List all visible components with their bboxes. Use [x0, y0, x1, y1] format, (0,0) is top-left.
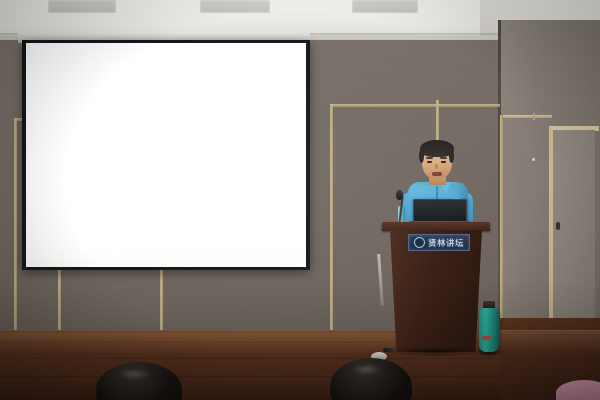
grass-blade [90, 256, 92, 264]
speaker-eye [427, 161, 432, 163]
grass-blade [75, 246, 77, 264]
grass-blade [113, 254, 115, 264]
wall-rail-horizontal [500, 115, 552, 118]
grass-blade [32, 239, 34, 264]
grass-blade [288, 248, 290, 264]
audience-head-highlight [118, 368, 152, 380]
grass-blade [271, 245, 273, 264]
ceiling-light-panel [48, 0, 116, 13]
grass-blade [93, 245, 95, 265]
side-door[interactable] [553, 130, 595, 330]
ceiling-light-panel [200, 0, 270, 13]
grass-blade [267, 239, 269, 264]
thermos-label [482, 336, 491, 340]
podium-plaque-text: 贤林讲坛 [428, 237, 464, 249]
slide-title: 热烈欢迎新读者 [26, 81, 306, 117]
grass-blade [215, 258, 217, 264]
lecture-hall-photo: 1 热烈欢迎新读者 ——2017级入馆教育 赵冬生 图书馆 读者服务部 [0, 0, 600, 400]
grass-blade [209, 254, 211, 264]
grass-blade [241, 245, 243, 264]
wall-trim-rail [330, 104, 500, 107]
speaker-shirt-placket [436, 186, 438, 200]
circular-emblem-icon [414, 237, 425, 248]
podium-top [382, 222, 490, 231]
wall-rail-vertical [500, 115, 503, 333]
grass-blade [145, 252, 147, 264]
grass-blade [78, 239, 80, 264]
grass-blade [206, 247, 208, 265]
grass-blade [52, 245, 54, 264]
grass-blade [66, 258, 68, 265]
grass-blade [122, 250, 124, 264]
speaker-eyebrow [426, 157, 433, 159]
grass-blade [276, 242, 278, 264]
grass-blade [151, 242, 153, 265]
speaker-eyebrow [440, 157, 447, 159]
grass-blade [82, 246, 84, 265]
grass-blade [186, 252, 188, 264]
projection-screen: 1 热烈欢迎新读者 ——2017级入馆教育 赵冬生 图书馆 读者服务部 [22, 40, 310, 270]
grass-blade [105, 244, 107, 264]
grass-blade [299, 241, 301, 264]
slide-grass-border [26, 233, 306, 267]
wall-trim-batten [330, 104, 333, 332]
grass-blade [163, 250, 165, 264]
slide-presenter-name: 赵冬生 [26, 183, 306, 200]
grass-blade [55, 239, 57, 264]
ceiling-light-panel [352, 0, 418, 13]
microphone-stand-arm [383, 348, 395, 352]
speaker-hair-side [419, 149, 424, 163]
green-thermos-bottle[interactable] [479, 308, 499, 352]
slide-subtitle-prefix: ——2017 [94, 130, 164, 146]
slide-subtitle-rest: 级入馆教育 [163, 130, 238, 146]
grass-blade [236, 242, 238, 264]
grass-blade [40, 245, 42, 264]
grass-blade [294, 244, 296, 264]
grass-blade [110, 241, 112, 264]
grass-blade [70, 243, 72, 264]
grass-blade [218, 244, 220, 265]
grass-blade [232, 256, 234, 264]
podium-shadow [386, 348, 486, 357]
grass-blade [43, 255, 45, 264]
grass-blade [302, 254, 304, 264]
grass-blade [279, 256, 281, 264]
grass-blade [101, 239, 103, 264]
slide-organization: 图书馆 读者服务部 [26, 213, 306, 229]
grass-blade [87, 242, 89, 264]
grass-blade [221, 239, 223, 264]
slide-top-rule [26, 61, 306, 64]
grass-blade [256, 258, 258, 264]
grass-blade [244, 239, 246, 264]
floor-reflection [0, 332, 600, 354]
speaker-eye [441, 161, 446, 163]
podium-plaque: 贤林讲坛 [408, 234, 470, 251]
slide-subtitle: ——2017级入馆教育 [26, 127, 306, 147]
grass-blade [174, 241, 176, 265]
slide-accent-bar [274, 191, 300, 194]
grass-blade [229, 245, 231, 264]
grass-blade [198, 240, 200, 264]
audience-head-highlight [352, 364, 382, 375]
grass-blade [171, 241, 173, 264]
grass-blade [194, 242, 196, 264]
grass-blade [148, 240, 150, 264]
grass-blade [159, 250, 161, 264]
speaker-mouth [432, 172, 442, 176]
speaker-nose [435, 164, 438, 169]
door-handle-icon[interactable] [556, 222, 560, 230]
wall-nail [532, 158, 535, 161]
grass-blade [136, 252, 138, 264]
grass-blade [264, 247, 266, 264]
grass-blade [183, 248, 185, 264]
presentation-slide: 1 热烈欢迎新读者 ——2017级入馆教育 赵冬生 图书馆 读者服务部 [26, 43, 306, 267]
grass-blade [180, 239, 182, 264]
grass-blade [140, 248, 142, 264]
wall-hook [533, 113, 535, 120]
speaker-hair-side [449, 149, 454, 163]
screen-surface: 1 热烈欢迎新读者 ——2017级入馆教育 赵冬生 图书馆 读者服务部 [26, 43, 306, 267]
grass-blade [253, 244, 255, 265]
grass-blade [128, 243, 130, 264]
wall-trim-batten [14, 118, 17, 332]
